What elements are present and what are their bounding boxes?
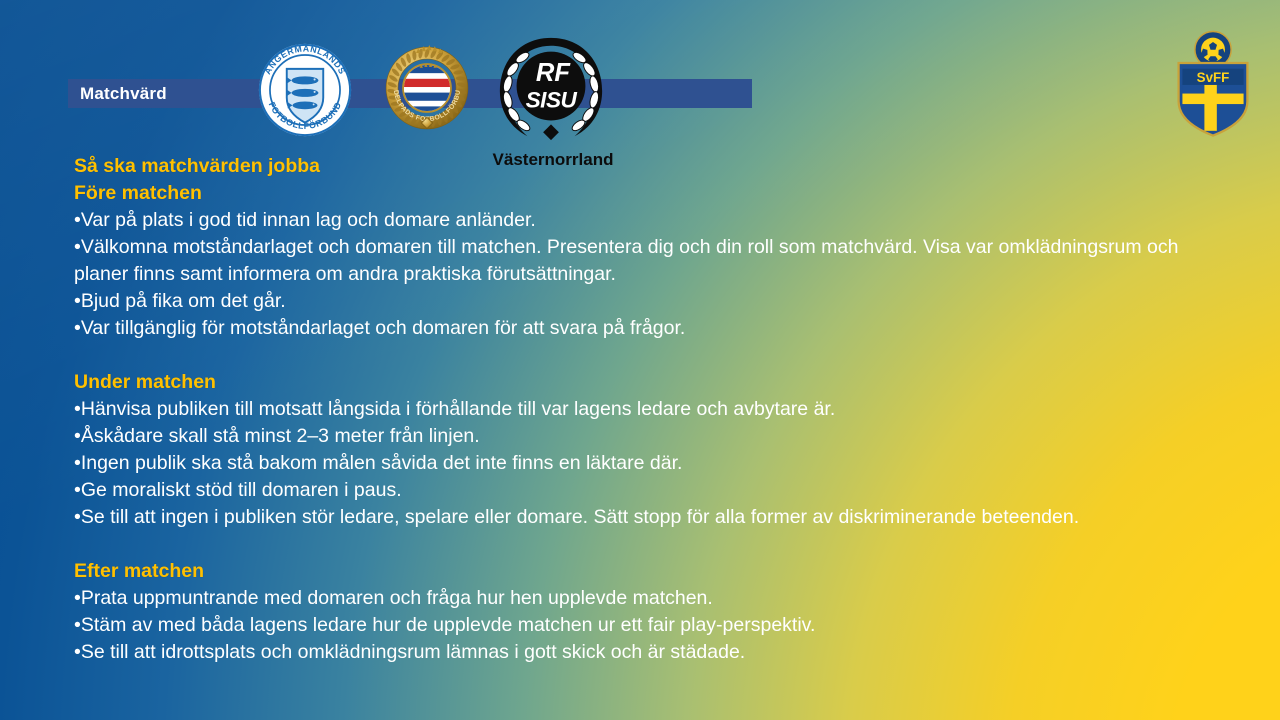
bullet-glyph: • xyxy=(74,506,81,528)
angermanlands-fotbollforbund-logo: ÅNGERMANLANDS FOTBOLLFÖRBUND xyxy=(257,42,353,138)
bullet-glyph: • xyxy=(74,425,81,447)
bullet-glyph: • xyxy=(74,209,81,231)
bullet-text: Hänvisa publiken till motsatt långsida i… xyxy=(81,398,835,420)
bullet-glyph: • xyxy=(74,587,81,609)
medelpads-fotbollforbund-logo: MEDELPADS FOTBOLLFÖRBUND xyxy=(381,41,473,135)
bullet-glyph: • xyxy=(74,452,81,474)
content-section: Under matchen•Hänvisa publiken till mots… xyxy=(74,369,1234,531)
bullet-text: Ingen publik ska stå bakom målen såvida … xyxy=(81,452,683,474)
bullet-glyph: • xyxy=(74,317,81,339)
section-spacer xyxy=(74,531,1234,558)
content-section: Före matchen•Var på plats i god tid inna… xyxy=(74,180,1234,342)
bullet-glyph: • xyxy=(74,614,81,636)
lead-heading: Så ska matchvärden jobba xyxy=(74,153,1234,180)
bullet-item: •Prata uppmuntrande med domaren och fråg… xyxy=(74,585,1234,612)
bullet-item: •Bjud på fika om det går. xyxy=(74,288,1234,315)
rf-sisu-vasternorrland-logo: RF SISU xyxy=(492,30,610,148)
bullet-item: •Se till att idrottsplats och omklädning… xyxy=(74,639,1234,666)
bullet-item: •Se till att ingen i publiken stör ledar… xyxy=(74,504,1234,531)
bullet-text: Ge moraliskt stöd till domaren i paus. xyxy=(81,479,402,501)
slide-body: Så ska matchvärden jobba Före matchen•Va… xyxy=(74,153,1234,666)
bullet-item: •Åskådare skall stå minst 2–3 meter från… xyxy=(74,423,1234,450)
bullet-text: Var på plats i god tid innan lag och dom… xyxy=(81,209,536,231)
bullet-item: •Hänvisa publiken till motsatt långsida … xyxy=(74,396,1234,423)
section-spacer xyxy=(74,342,1234,369)
bullet-text: Bjud på fika om det går. xyxy=(81,290,286,312)
bullet-text: Stäm av med båda lagens ledare hur de up… xyxy=(81,614,816,636)
bullet-item: •Ge moraliskt stöd till domaren i paus. xyxy=(74,477,1234,504)
bullet-text: Var tillgänglig för motståndarlaget och … xyxy=(81,317,685,339)
bullet-item: •Var på plats i god tid innan lag och do… xyxy=(74,207,1234,234)
bullet-item: •Ingen publik ska stå bakom målen såvida… xyxy=(74,450,1234,477)
content-section: Efter matchen•Prata uppmuntrande med dom… xyxy=(74,558,1234,666)
slide-canvas: Matchvärd ÅNGERMANLANDS FOTBOLLFÖRBUND xyxy=(0,0,1280,720)
svff-logo: SvFF xyxy=(1170,30,1256,138)
bullet-text: Åskådare skall stå minst 2–3 meter från … xyxy=(81,425,480,447)
rfsisu-line2: SISU xyxy=(526,88,578,113)
sections-container: Före matchen•Var på plats i god tid inna… xyxy=(74,180,1234,666)
svff-monogram: SvFF xyxy=(1197,70,1230,85)
section-heading: Före matchen xyxy=(74,180,1234,207)
bullet-item: •Stäm av med båda lagens ledare hur de u… xyxy=(74,612,1234,639)
bullet-glyph: • xyxy=(74,641,81,663)
bullet-text: Välkomna motståndarlaget och domaren til… xyxy=(74,236,1178,285)
rfsisu-line1: RF xyxy=(536,59,571,87)
bullet-glyph: • xyxy=(74,398,81,420)
bullet-text: Se till att ingen i publiken stör ledare… xyxy=(81,506,1079,528)
bullet-glyph: • xyxy=(74,290,81,312)
bullet-item: •Välkomna motståndarlaget och domaren ti… xyxy=(74,234,1234,288)
bullet-glyph: • xyxy=(74,479,81,501)
bullet-item: •Var tillgänglig för motståndarlaget och… xyxy=(74,315,1234,342)
bullet-text: Se till att idrottsplats och omklädnings… xyxy=(81,641,745,663)
section-heading: Efter matchen xyxy=(74,558,1234,585)
bullet-text: Prata uppmuntrande med domaren och fråga… xyxy=(81,587,713,609)
page-title: Matchvärd xyxy=(80,84,167,104)
section-heading: Under matchen xyxy=(74,369,1234,396)
bullet-glyph: • xyxy=(74,236,81,258)
